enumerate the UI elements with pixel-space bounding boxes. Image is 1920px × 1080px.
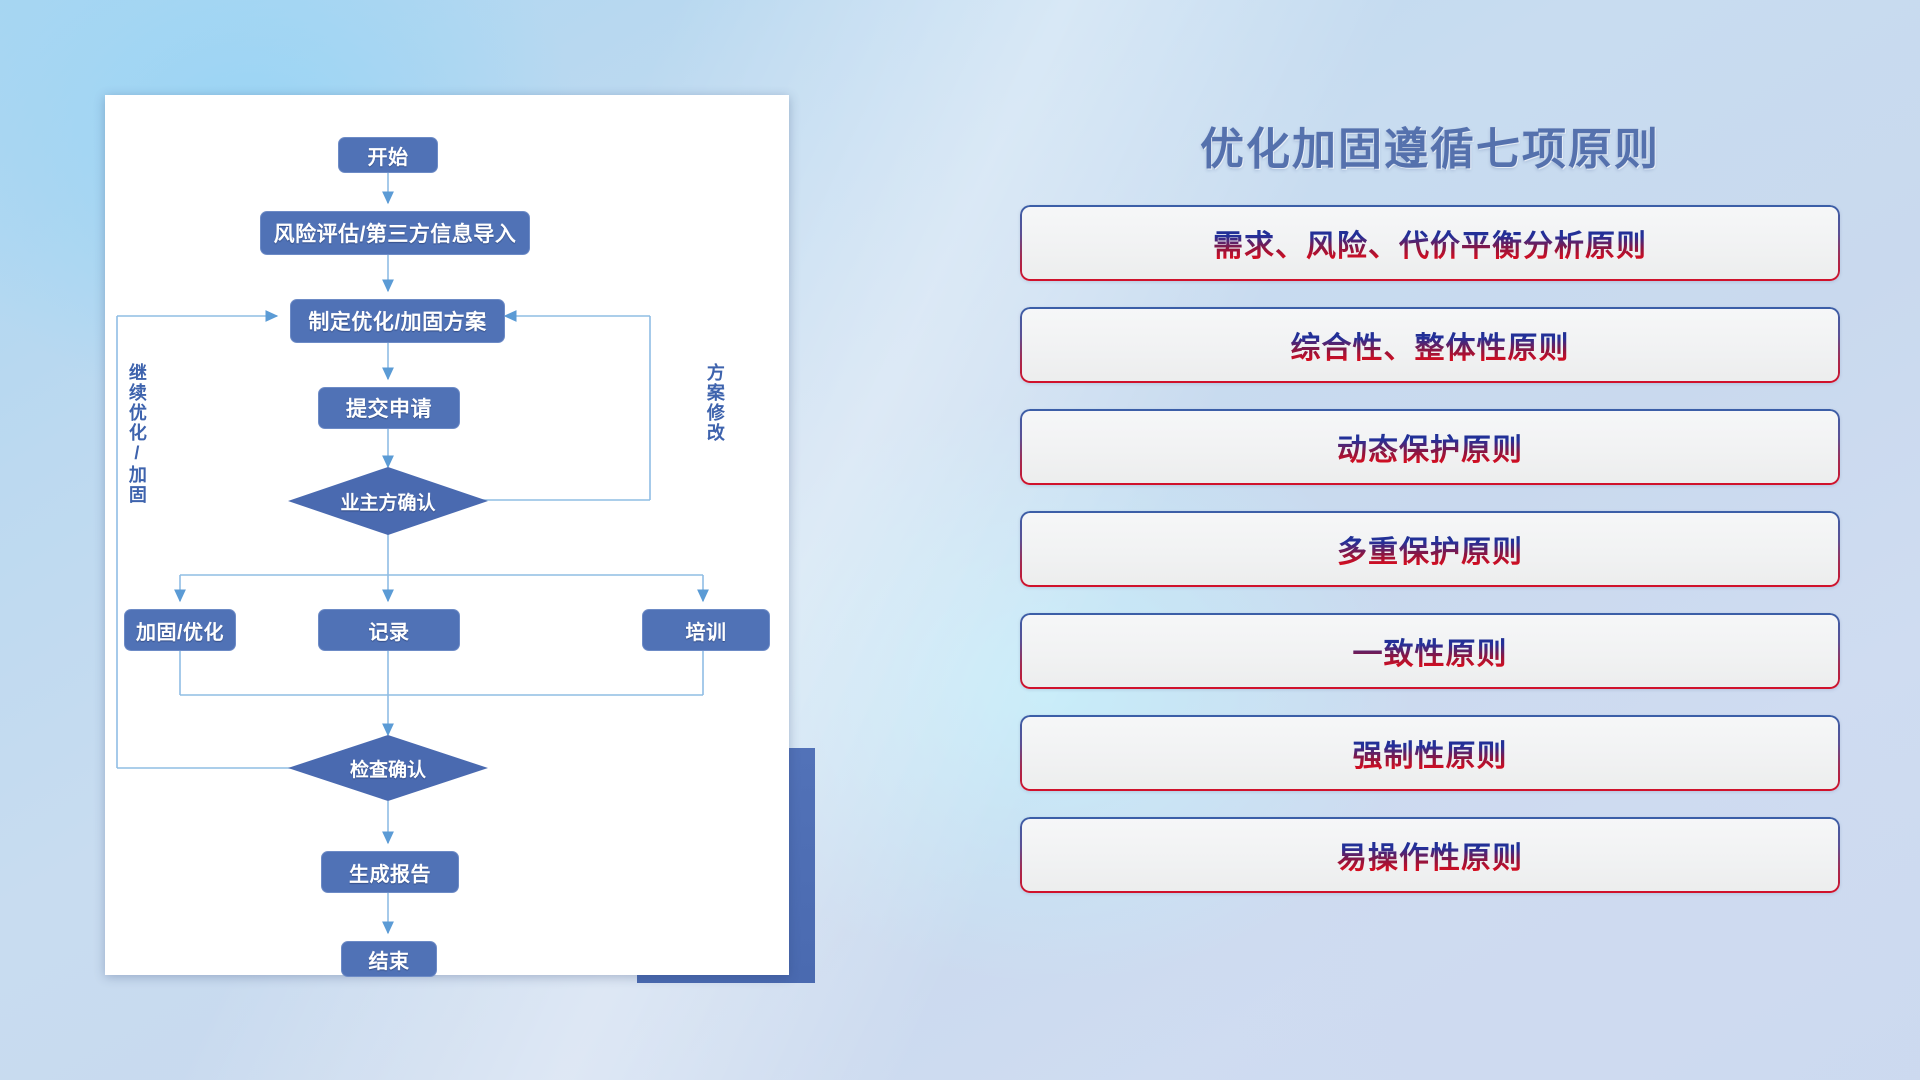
flow-node-record[interactable]: 记录 <box>318 609 460 651</box>
flow-node-generate-report[interactable]: 生成报告 <box>321 851 459 893</box>
principle-item-7[interactable]: 易操作性原则 <box>1020 817 1840 893</box>
flow-node-label: 业主方确认 <box>340 488 435 515</box>
principles-list: 需求、风险、代价平衡分析原则 综合性、整体性原则 动态保护原则 多重保护原则 一… <box>1020 205 1840 919</box>
flow-node-label: 风险评估/第三方信息导入 <box>274 218 517 248</box>
principle-item-6[interactable]: 强制性原则 <box>1020 715 1840 791</box>
flowchart: 开始 风险评估/第三方信息导入 制定优化/加固方案 提交申请 业主方确认 加固/… <box>105 95 789 975</box>
flow-node-risk-assessment[interactable]: 风险评估/第三方信息导入 <box>260 211 530 255</box>
principle-item-2[interactable]: 综合性、整体性原则 <box>1020 307 1840 383</box>
flow-node-label: 加固/优化 <box>136 616 224 645</box>
flow-node-start[interactable]: 开始 <box>338 137 438 173</box>
flow-node-label: 培训 <box>686 616 727 645</box>
flow-node-training[interactable]: 培训 <box>642 609 770 651</box>
principle-label: 综合性、整体性原则 <box>1291 323 1570 367</box>
flow-edge-label-plan-revision: 方案修改 <box>705 363 724 443</box>
principle-label: 需求、风险、代价平衡分析原则 <box>1213 221 1647 265</box>
flow-node-submit-application[interactable]: 提交申请 <box>318 387 460 429</box>
flow-node-plan[interactable]: 制定优化/加固方案 <box>290 299 505 343</box>
flow-node-label: 检查确认 <box>350 755 426 782</box>
page-title: 优化加固遵循七项原则 <box>1020 113 1840 177</box>
flow-node-label: 制定优化/加固方案 <box>308 306 486 336</box>
flow-edge-label-continue-optimize: 继续优化/加固 <box>127 363 146 505</box>
flow-node-label: 提交申请 <box>346 393 432 423</box>
principle-label: 强制性原则 <box>1353 731 1508 775</box>
flow-node-label: 开始 <box>368 141 409 170</box>
principle-item-5[interactable]: 一致性原则 <box>1020 613 1840 689</box>
principles-panel: 优化加固遵循七项原则 需求、风险、代价平衡分析原则 综合性、整体性原则 动态保护… <box>1020 95 1840 995</box>
principle-item-4[interactable]: 多重保护原则 <box>1020 511 1840 587</box>
principle-label: 多重保护原则 <box>1337 527 1523 571</box>
principle-item-1[interactable]: 需求、风险、代价平衡分析原则 <box>1020 205 1840 281</box>
flowchart-card: 开始 风险评估/第三方信息导入 制定优化/加固方案 提交申请 业主方确认 加固/… <box>105 95 789 975</box>
principle-label: 一致性原则 <box>1353 629 1508 673</box>
principle-label: 动态保护原则 <box>1337 425 1523 469</box>
principle-item-3[interactable]: 动态保护原则 <box>1020 409 1840 485</box>
flow-node-label: 生成报告 <box>349 858 431 887</box>
flow-node-end[interactable]: 结束 <box>341 941 437 977</box>
principle-label: 易操作性原则 <box>1337 833 1523 877</box>
flow-node-label: 结束 <box>369 945 410 974</box>
flow-node-label: 记录 <box>369 616 410 645</box>
flow-node-reinforce[interactable]: 加固/优化 <box>124 609 236 651</box>
